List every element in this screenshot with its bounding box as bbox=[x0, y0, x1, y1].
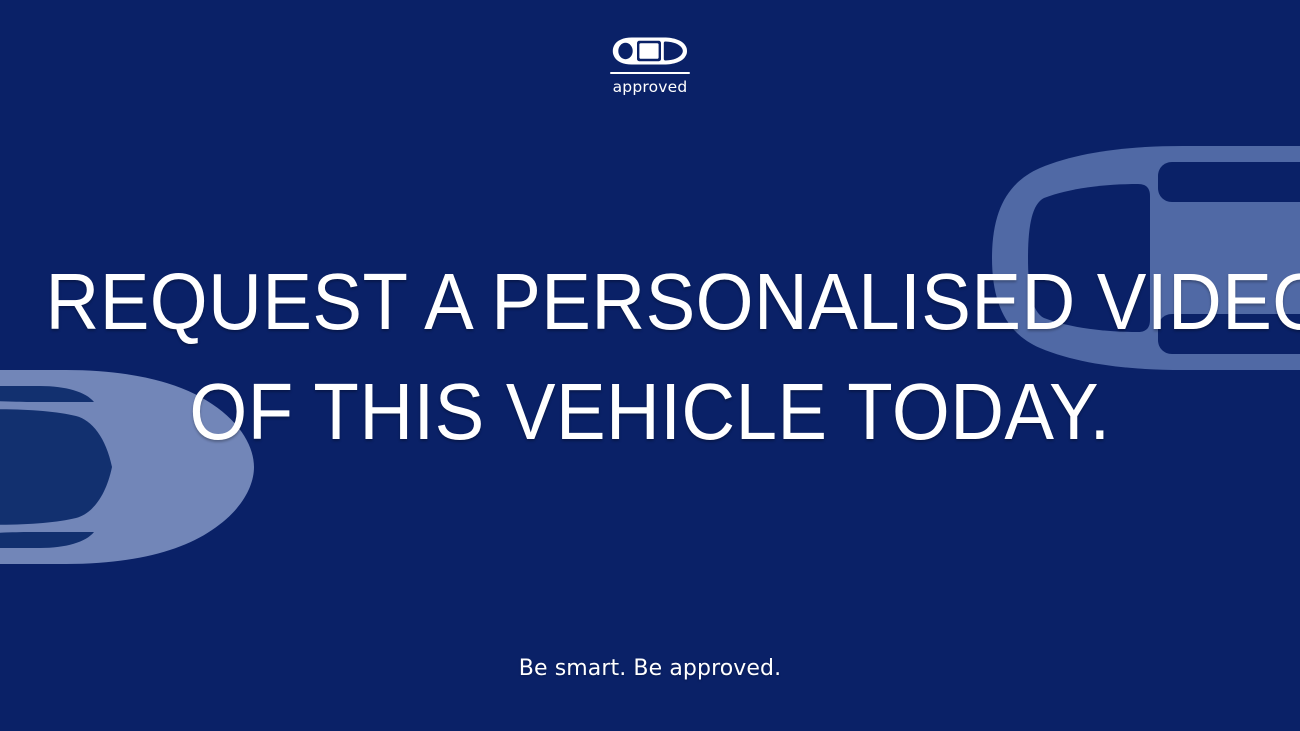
approved-logo: approved bbox=[602, 36, 698, 96]
headline-line-1: REQUEST A PERSONALISED VIDEO bbox=[46, 262, 1255, 342]
logo-divider-rule bbox=[610, 72, 690, 74]
tagline: Be smart. Be approved. bbox=[0, 656, 1300, 681]
logo-wordmark: approved bbox=[602, 79, 698, 96]
approved-car-top-view-icon bbox=[612, 36, 688, 66]
promo-slide: approved REQUEST A PERSONALISED VIDEO OF… bbox=[0, 0, 1300, 731]
headline-line-2: OF THIS VEHICLE TODAY. bbox=[46, 372, 1255, 452]
page-title: REQUEST A PERSONALISED VIDEO OF THIS VEH… bbox=[0, 262, 1300, 452]
